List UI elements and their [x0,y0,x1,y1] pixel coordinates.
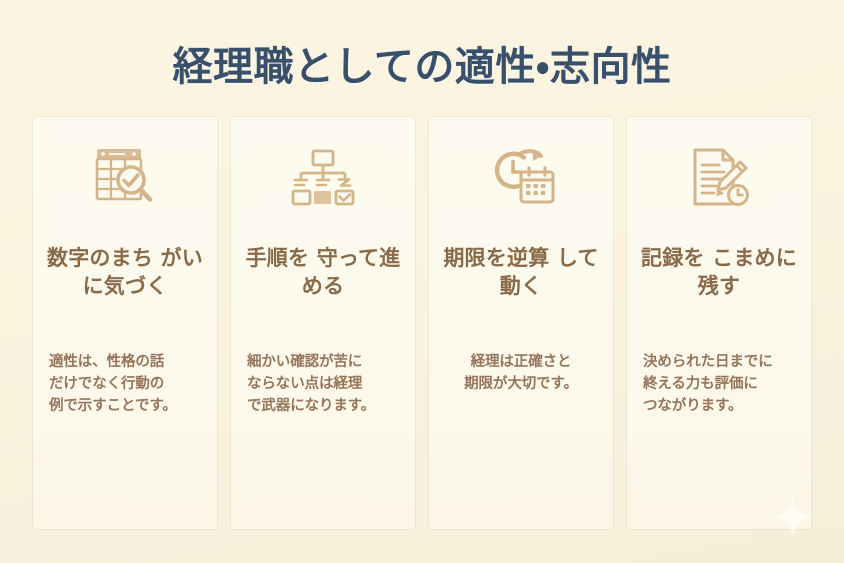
document-pencil-clock-icon [683,145,755,211]
feature-card-3-body: 経理は正確さと 期限が大切です。 [439,351,603,395]
body-line-1: 適性は、性格の話 [49,351,201,373]
heading-line-1: 数字のまち [47,246,153,270]
spreadsheet-check-search-icon [89,145,161,211]
feature-card-3: 期限を逆算 して動く 経理は正確さと 期限が大切です。 [429,117,613,529]
feature-card-2-heading: 手順を 守って進める [241,245,405,301]
feature-card-4: 記録を こまめに残す 決められた日までに 終える力も評価に つながります。 [627,117,811,529]
heading-line-1: 期限を逆算 [443,246,549,270]
body-line-1: 経理は正確さと [445,351,597,373]
body-line-1: 決められた日までに [643,351,795,373]
body-line-3: つながります。 [643,395,795,417]
feature-card-3-heading: 期限を逆算 して動く [439,245,603,301]
body-line-1: 細かい確認が苦に [247,351,399,373]
body-line-2: 終える力も評価に [643,373,795,395]
body-line-2: 期限が大切です。 [445,373,597,395]
body-line-3: 例で示すことです。 [49,395,201,417]
body-line-2: ならない点は経理 [247,373,399,395]
feature-card-1: 数字のまち がいに気づく 適性は、性格の話 だけでなく行動の 例で示すことです。 [33,117,217,529]
feature-card-grid: 数字のまち がいに気づく 適性は、性格の話 だけでなく行動の 例で示すことです。 [33,117,811,529]
body-line-3: で武器になります。 [247,395,399,417]
feature-card-1-heading: 数字のまち がいに気づく [43,245,207,301]
heading-line-1: 手順を [246,246,310,270]
feature-card-1-body: 適性は、性格の話 だけでなく行動の 例で示すことです。 [43,351,207,417]
clock-arrow-calendar-icon [485,145,557,211]
page-title: 経理職としての適性・志向性 [0,34,844,92]
heading-line-2: こまめに残す [698,246,797,298]
feature-card-2: 手順を 守って進める 細かい確認が苦に ならない点は経理 で武器になります。 [231,117,415,529]
body-line-2: だけでなく行動の [49,373,201,395]
flowchart-process-icon [287,145,359,211]
feature-card-4-heading: 記録を こまめに残す [637,245,801,301]
feature-card-2-body: 細かい確認が苦に ならない点は経理 で武器になります。 [241,351,405,417]
heading-line-1: 記録を [641,246,705,270]
heading-line-2: 守って進める [302,246,401,298]
feature-card-4-body: 決められた日までに 終える力も評価に つながります。 [637,351,801,417]
